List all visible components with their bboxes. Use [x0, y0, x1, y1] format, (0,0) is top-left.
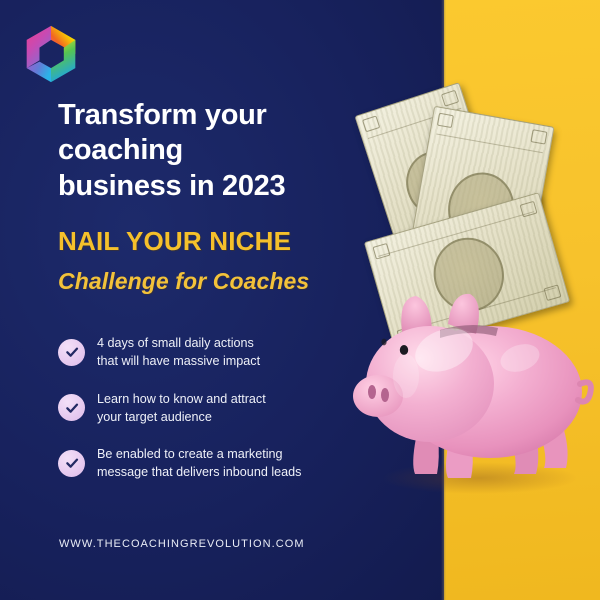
bullet-line-2: message that delivers inbound leads	[97, 463, 301, 481]
bullet-line-1: 4 days of small daily actions	[97, 334, 260, 352]
website-url[interactable]: WWW.THECOACHINGREVOLUTION.COM	[59, 538, 305, 550]
bullet-line-2: that will have massive impact	[97, 352, 260, 370]
promo-poster: Transform your coaching business in 2023…	[0, 0, 600, 600]
hexagon-rainbow-logo	[18, 22, 84, 86]
list-item-label: 4 days of small daily actions that will …	[97, 334, 260, 371]
offer-title: NAIL YOUR NICHE	[58, 226, 291, 257]
list-item-label: Learn how to know and attract your targe…	[97, 390, 266, 427]
check-circle-icon	[58, 339, 85, 366]
check-circle-icon	[58, 450, 85, 477]
piggy-bank-illustration	[344, 280, 594, 495]
bullet-line-1: Learn how to know and attract	[97, 390, 266, 408]
offer-subtitle: Challenge for Coaches	[58, 268, 309, 295]
money-piggy-bank-artwork	[330, 85, 600, 515]
bullet-line-1: Be enabled to create a marketing	[97, 445, 301, 463]
list-item-label: Be enabled to create a marketing message…	[97, 445, 301, 482]
check-circle-icon	[58, 394, 85, 421]
bullet-line-2: your target audience	[97, 408, 266, 426]
